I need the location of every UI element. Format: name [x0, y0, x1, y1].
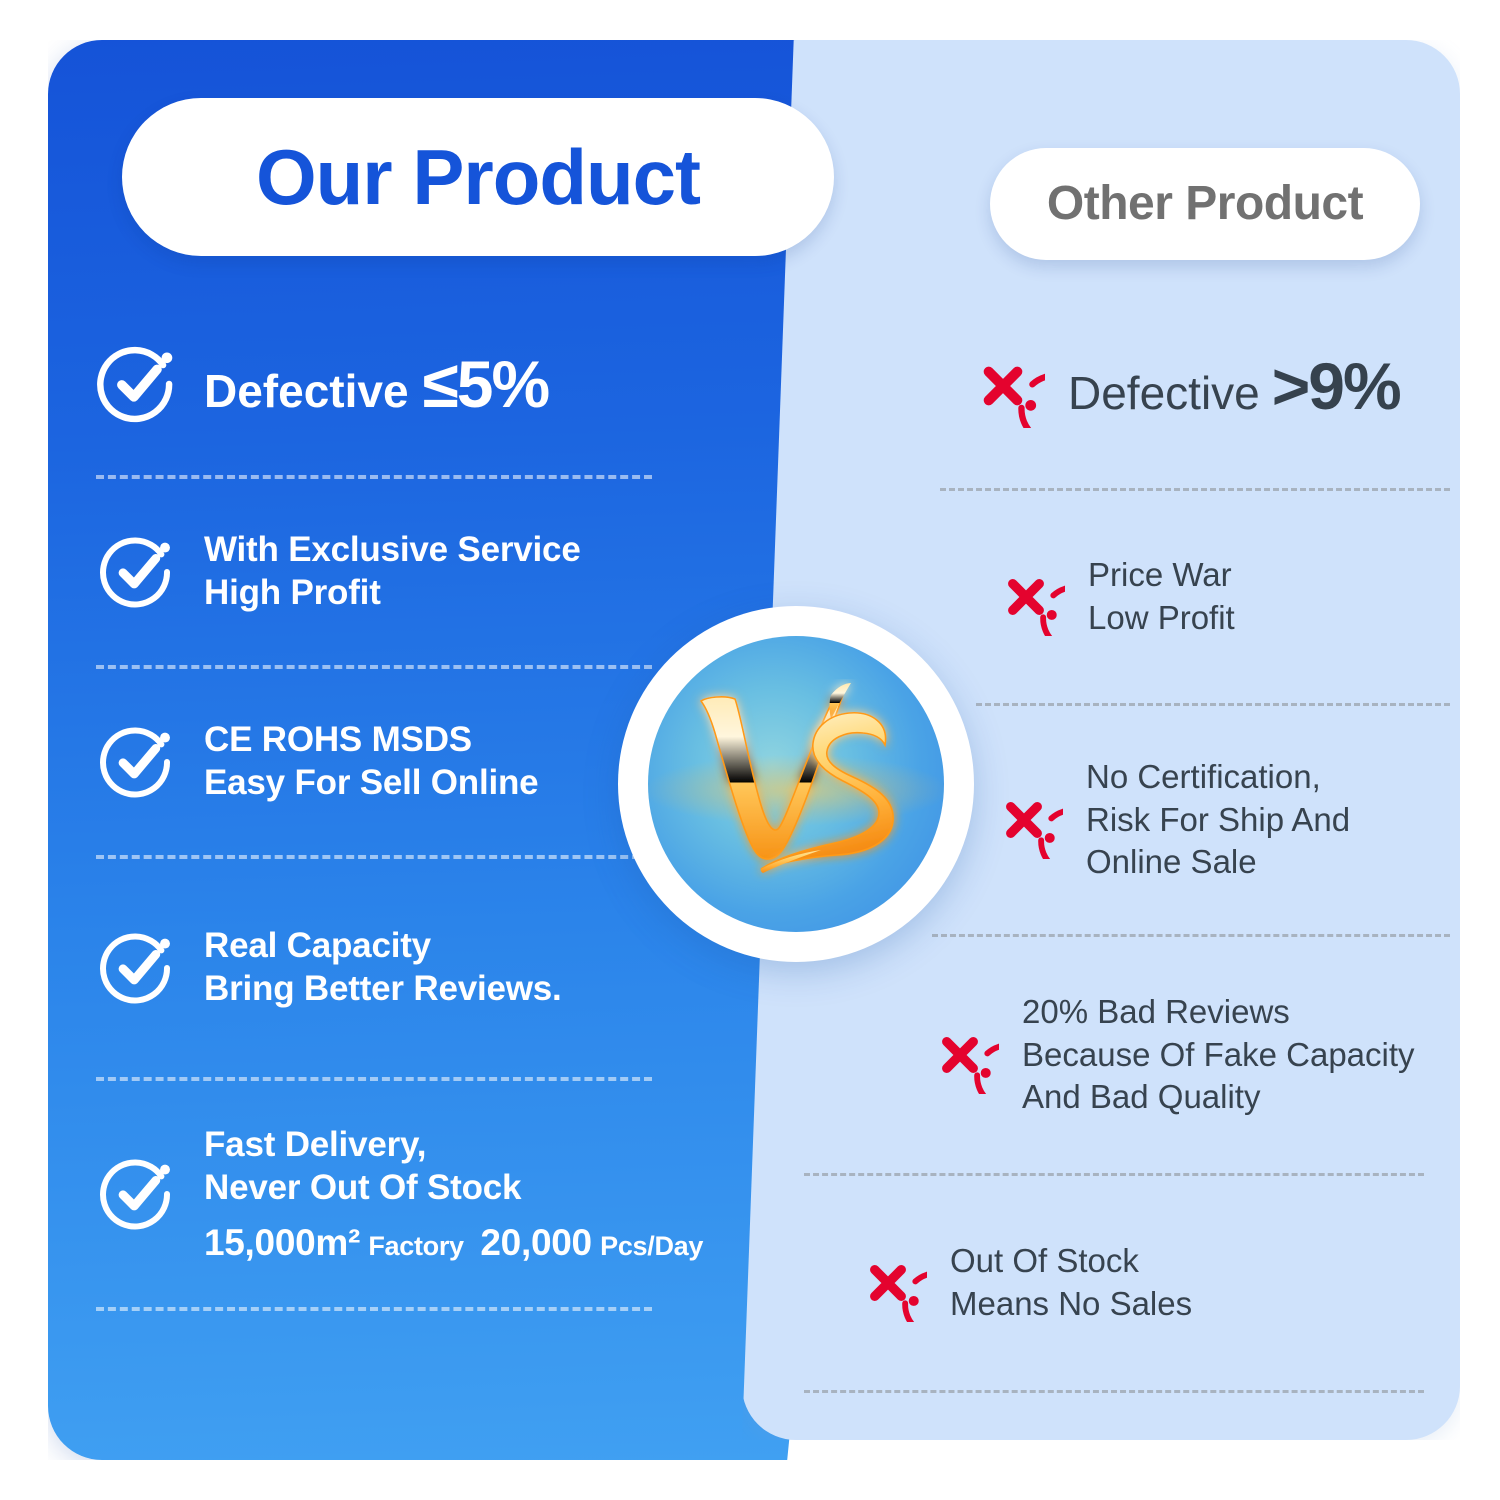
defective-label-left: Defective [204, 368, 409, 414]
drawback-line: Risk For Ship And [1086, 799, 1350, 842]
defective-value-right: >9% [1272, 353, 1400, 419]
feature-row-exclusive-service-text: With Exclusive Service High Profit [182, 529, 581, 614]
feature-row-fast-delivery: Fast Delivery, Never Out Of Stock 15,000… [96, 1081, 676, 1307]
vs-badge-inner: VS [648, 636, 944, 932]
drawback-line: 20% Bad Reviews [1022, 991, 1415, 1034]
drawback-line: Means No Sales [950, 1283, 1192, 1326]
drawback-row-defective: Defective >9% [790, 326, 1450, 446]
vs-lettering [683, 679, 909, 889]
feature-line: CE ROHS MSDS [204, 719, 538, 762]
defective-label-right: Defective [1068, 370, 1260, 416]
x-circle-icon [984, 780, 1064, 860]
check-circle-icon [96, 719, 182, 805]
divider-left-5 [96, 1307, 652, 1311]
defective-value-left: ≤5% [423, 351, 549, 417]
daily-output-label: Pcs/Day [600, 1231, 703, 1261]
check-circle-icon [96, 341, 182, 427]
drawback-line: Online Sale [1086, 841, 1350, 884]
feature-line: Never Out Of Stock [204, 1167, 703, 1210]
drawback-row-price-war-text: Price War Low Profit [1066, 554, 1235, 640]
check-circle-icon [96, 1151, 182, 1237]
drawback-line: Because Of Fake Capacity [1022, 1034, 1415, 1077]
drawback-row-out-of-stock-text: Out Of Stock Means No Sales [928, 1240, 1192, 1326]
check-circle-icon [96, 925, 182, 1011]
our-product-header-pill: Our Product [122, 98, 834, 256]
feature-line: Real Capacity [204, 925, 562, 968]
drawback-line: And Bad Quality [1022, 1076, 1415, 1119]
drawback-row-no-certification-text: No Certification, Risk For Ship And Onli… [1064, 756, 1350, 885]
vs-badge-icon: VS [618, 606, 974, 962]
our-product-feature-list: Defective ≤5% With Exclusive Service Hig… [96, 318, 676, 1311]
drawback-line: Price War [1088, 554, 1235, 597]
our-product-title: Our Product [256, 138, 700, 216]
x-circle-icon [848, 1243, 928, 1323]
other-product-header-pill: Other Product [990, 148, 1420, 260]
feature-line: Fast Delivery, [204, 1124, 703, 1167]
feature-line: Easy For Sell Online [204, 762, 538, 805]
drawback-row-out-of-stock: Out Of Stock Means No Sales [790, 1176, 1450, 1390]
divider-right-5 [804, 1390, 1424, 1393]
feature-row-exclusive-service: With Exclusive Service High Profit [96, 479, 676, 665]
comparison-infographic: Our Product Other Product Defective ≤5% [0, 0, 1500, 1500]
drawback-line: Out Of Stock [950, 1240, 1192, 1283]
x-circle-icon [920, 1015, 1000, 1095]
drawback-line: No Certification, [1086, 756, 1350, 799]
factory-area-label: Factory [368, 1231, 463, 1261]
feature-row-certifications-text: CE ROHS MSDS Easy For Sell Online [182, 719, 538, 804]
drawback-row-bad-reviews-text: 20% Bad Reviews Because Of Fake Capacity… [1000, 991, 1415, 1120]
drawback-row-bad-reviews: 20% Bad Reviews Because Of Fake Capacity… [790, 937, 1450, 1173]
drawback-line: Low Profit [1088, 597, 1235, 640]
feature-row-real-capacity: Real Capacity Bring Better Reviews. [96, 859, 676, 1077]
feature-line: With Exclusive Service [204, 529, 581, 572]
feature-row-real-capacity-text: Real Capacity Bring Better Reviews. [182, 925, 562, 1010]
feature-row-fast-delivery-text: Fast Delivery, Never Out Of Stock 15,000… [182, 1124, 703, 1264]
check-circle-icon [96, 529, 182, 615]
feature-line: Bring Better Reviews. [204, 968, 562, 1011]
other-product-title: Other Product [1047, 180, 1363, 228]
feature-row-defective: Defective ≤5% [96, 318, 676, 450]
feature-row-certifications: CE ROHS MSDS Easy For Sell Online [96, 669, 676, 855]
x-circle-icon [960, 343, 1046, 429]
factory-area: 15,000m² [204, 1222, 360, 1263]
factory-capacity-line: 15,000m² Factory 20,000 Pcs/Day [204, 1222, 703, 1264]
feature-row-defective-text: Defective ≤5% [182, 351, 548, 417]
daily-output: 20,000 [480, 1222, 591, 1263]
feature-line: High Profit [204, 572, 581, 615]
x-circle-icon [986, 557, 1066, 637]
drawback-row-defective-text: Defective >9% [1046, 353, 1400, 419]
